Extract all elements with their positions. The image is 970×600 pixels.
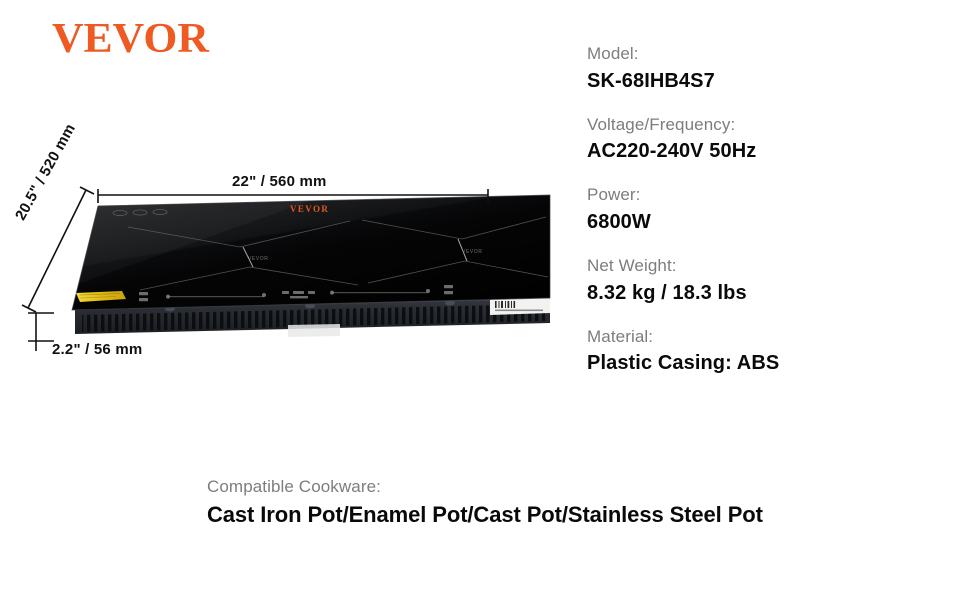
compatible-cookware-block: Compatible Cookware: Cast Iron Pot/Ename…: [207, 474, 763, 530]
spec-item-material: Material: Plastic Casing: ABS: [587, 325, 917, 378]
spec-value-model: SK-68IHB4S7: [587, 67, 917, 95]
spec-item-net-weight: Net Weight: 8.32 kg / 18.3 lbs: [587, 254, 917, 307]
glass-brand-mark: VEVOR: [290, 204, 329, 214]
spec-value-voltage-frequency: AC220-240V 50Hz: [587, 137, 917, 165]
dimension-label-height: 2.2" / 56 mm: [52, 341, 142, 358]
glass-etch-left: VEVOR: [248, 256, 269, 262]
spec-value-material: Plastic Casing: ABS: [587, 349, 917, 377]
vevor-logo: VEVOR: [52, 18, 209, 60]
cookware-label: Compatible Cookware:: [207, 474, 763, 500]
spec-item-model: Model: SK-68IHB4S7: [587, 42, 917, 95]
spec-item-power: Power: 6800W: [587, 183, 917, 236]
cookware-value: Cast Iron Pot/Enamel Pot/Cast Pot/Stainl…: [207, 500, 763, 531]
spec-label-voltage-frequency: Voltage/Frequency:: [587, 113, 917, 138]
spec-label-net-weight: Net Weight:: [587, 254, 917, 279]
spec-label-material: Material:: [587, 325, 917, 350]
spec-item-voltage-frequency: Voltage/Frequency: AC220-240V 50Hz: [587, 113, 917, 166]
glass-etch-right: VEVOR: [462, 249, 483, 255]
spec-value-net-weight: 8.32 kg / 18.3 lbs: [587, 279, 917, 307]
spec-value-power: 6800W: [587, 208, 917, 236]
dimension-line-height: [28, 313, 54, 351]
dimension-label-width: 22" / 560 mm: [232, 173, 327, 190]
spec-label-power: Power:: [587, 183, 917, 208]
specification-list: Model: SK-68IHB4S7 Voltage/Frequency: AC…: [587, 42, 917, 377]
spec-label-model: Model:: [587, 42, 917, 67]
